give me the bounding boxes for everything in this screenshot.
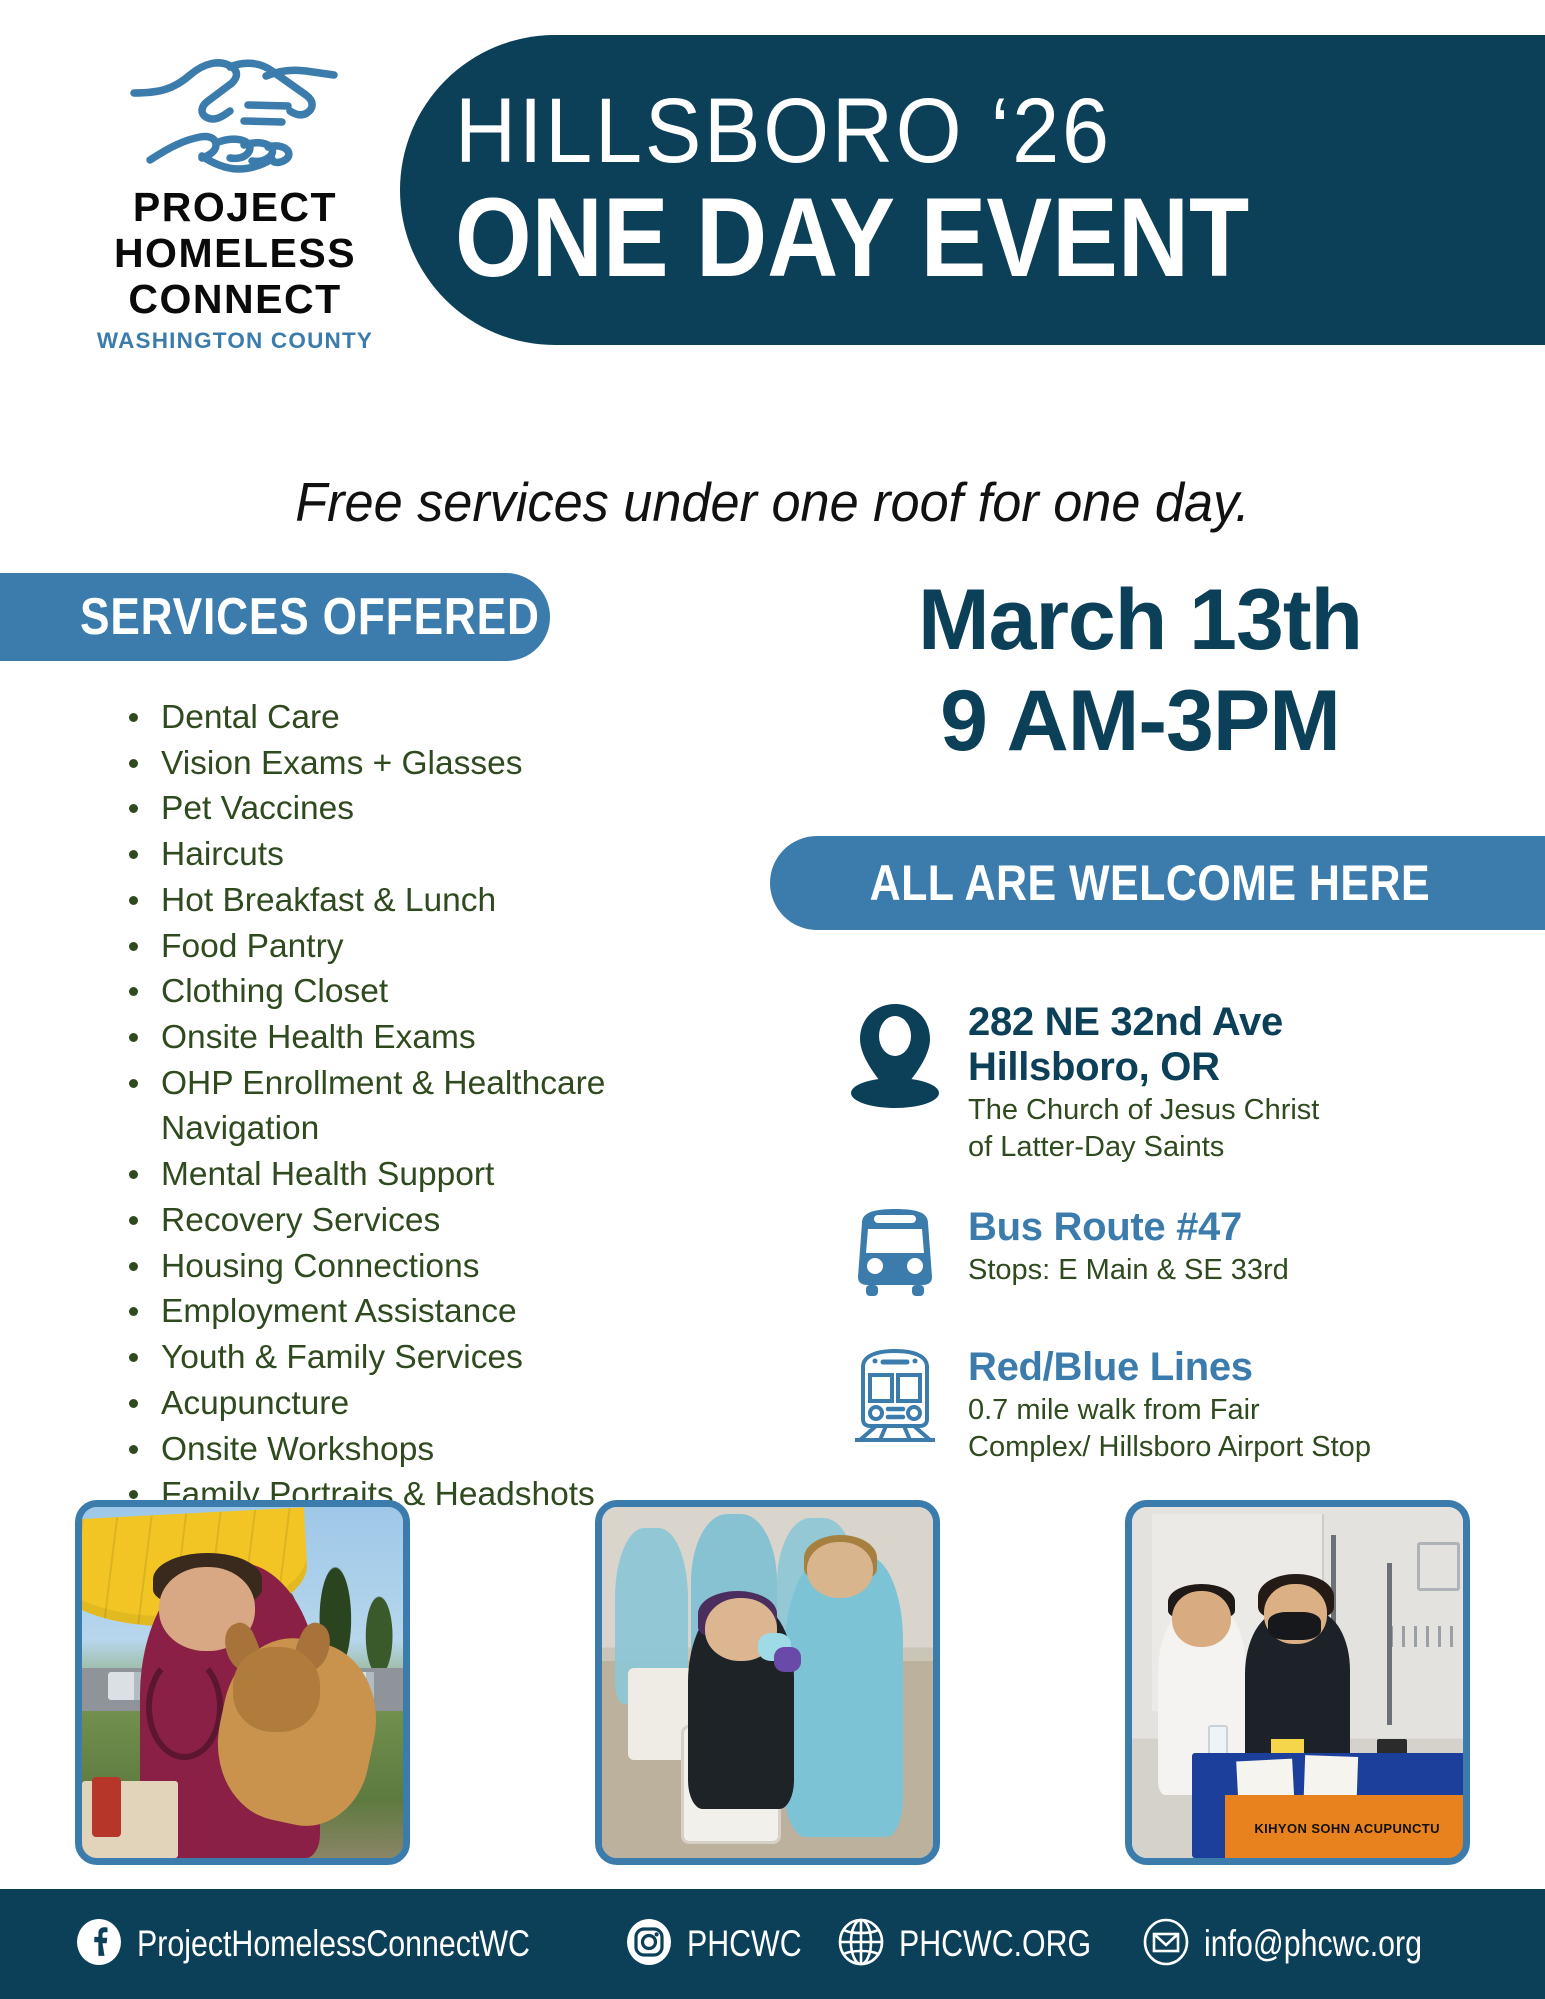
footer-contact-bar: ProjectHomelessConnectWC PHCWC	[0, 1889, 1545, 1999]
dental-clinic-photo	[595, 1500, 940, 1865]
train-lines-title: Red/Blue Lines	[968, 1345, 1371, 1390]
tagline: Free services under one roof for one day…	[39, 470, 1507, 534]
list-item: Onsite Health Exams	[125, 1015, 705, 1061]
footer-email[interactable]: info@phcwc.org	[1142, 1918, 1470, 1971]
event-date: March 13th	[790, 570, 1490, 671]
flyer-page: HILLSBORO ‘26 ONE DAY EVENT PROJECT HOME…	[0, 0, 1545, 1999]
bus-row: Bus Route #47 Stops: E Main & SE 33rd	[840, 1205, 1289, 1297]
services-offered-label: SERVICES OFFERED	[80, 587, 540, 647]
bus-icon	[840, 1205, 950, 1297]
list-item: Mental Health Support	[125, 1152, 705, 1198]
location-text: 282 NE 32nd Ave Hillsboro, OR The Church…	[950, 1000, 1319, 1164]
address-line1: 282 NE 32nd Ave	[968, 1000, 1319, 1045]
acupuncture-banner-text: KIHYON SOHN ACUPUNCTU	[1254, 1821, 1440, 1836]
list-item: Recovery Services	[125, 1198, 705, 1244]
list-item-continuation: Navigation	[125, 1106, 705, 1152]
train-detail-line2: Complex/ Hillsboro Airport Stop	[968, 1430, 1371, 1464]
organization-logo: PROJECT HOMELESS CONNECT WASHINGTON COUN…	[75, 45, 395, 354]
header-banner: HILLSBORO ‘26 ONE DAY EVENT	[400, 35, 1545, 345]
globe-icon	[837, 1918, 885, 1971]
welcome-banner: ALL ARE WELCOME HERE	[770, 836, 1545, 930]
map-pin-icon	[840, 1000, 950, 1112]
list-item: Haircuts	[125, 832, 705, 878]
footer-facebook[interactable]: ProjectHomelessConnectWC	[75, 1918, 616, 1971]
services-offered-heading: SERVICES OFFERED	[0, 573, 550, 661]
address-line2: Hillsboro, OR	[968, 1045, 1319, 1090]
header-title-line1: HILLSBORO ‘26	[455, 85, 1458, 177]
pet-vaccine-photo	[75, 1500, 410, 1865]
logo-subtitle: WASHINGTON COUNTY	[75, 328, 395, 354]
list-item: Pet Vaccines	[125, 786, 705, 832]
email-icon	[1142, 1918, 1190, 1971]
footer-email-label: info@phcwc.org	[1204, 1923, 1422, 1965]
facebook-icon	[75, 1918, 123, 1971]
acupuncture-booth-photo: KIHYON SOHN ACUPUNCTU	[1125, 1500, 1470, 1865]
list-item: OHP Enrollment & Healthcare	[125, 1061, 705, 1107]
list-item: Vision Exams + Glasses	[125, 741, 705, 787]
train-text: Red/Blue Lines 0.7 mile walk from Fair C…	[950, 1345, 1371, 1464]
venue-line1: The Church of Jesus Christ	[968, 1093, 1319, 1127]
list-item: Acupuncture	[125, 1381, 705, 1427]
instagram-icon	[625, 1918, 673, 1971]
footer-facebook-label: ProjectHomelessConnectWC	[137, 1923, 530, 1965]
list-item: Hot Breakfast & Lunch	[125, 878, 705, 924]
bus-stops-detail: Stops: E Main & SE 33rd	[968, 1253, 1289, 1287]
welcome-banner-label: ALL ARE WELCOME HERE	[870, 854, 1430, 912]
list-item: Onsite Workshops	[125, 1427, 705, 1473]
list-item: Food Pantry	[125, 924, 705, 970]
list-item: Youth & Family Services	[125, 1335, 705, 1381]
footer-instagram-label: PHCWC	[687, 1923, 802, 1965]
train-icon	[840, 1345, 950, 1443]
logo-word-homeless: HOMELESS	[75, 231, 395, 277]
bus-route-title: Bus Route #47	[968, 1205, 1289, 1250]
logo-word-project: PROJECT	[75, 185, 395, 231]
footer-instagram[interactable]: PHCWC	[625, 1918, 827, 1971]
photo-gallery: KIHYON SOHN ACUPUNCTU	[75, 1500, 1470, 1865]
logo-word-connect: CONNECT	[75, 277, 395, 323]
list-item: Housing Connections	[125, 1244, 705, 1290]
train-row: Red/Blue Lines 0.7 mile walk from Fair C…	[840, 1345, 1371, 1464]
services-list: Dental Care Vision Exams + Glasses Pet V…	[125, 695, 705, 1518]
list-item: Clothing Closet	[125, 969, 705, 1015]
header-title-line2: ONE DAY EVENT	[455, 181, 1414, 295]
venue-line2: of Latter-Day Saints	[968, 1130, 1319, 1164]
bus-text: Bus Route #47 Stops: E Main & SE 33rd	[950, 1205, 1289, 1287]
footer-website[interactable]: PHCWC.ORG	[837, 1918, 1133, 1971]
location-row: 282 NE 32nd Ave Hillsboro, OR The Church…	[840, 1000, 1319, 1164]
handshake-icon	[75, 45, 395, 185]
train-detail-line1: 0.7 mile walk from Fair	[968, 1393, 1371, 1427]
event-time: 9 AM-3PM	[790, 671, 1490, 772]
list-item: Employment Assistance	[125, 1289, 705, 1335]
event-date-block: March 13th 9 AM-3PM	[790, 570, 1490, 773]
footer-website-label: PHCWC.ORG	[899, 1923, 1091, 1965]
list-item: Dental Care	[125, 695, 705, 741]
